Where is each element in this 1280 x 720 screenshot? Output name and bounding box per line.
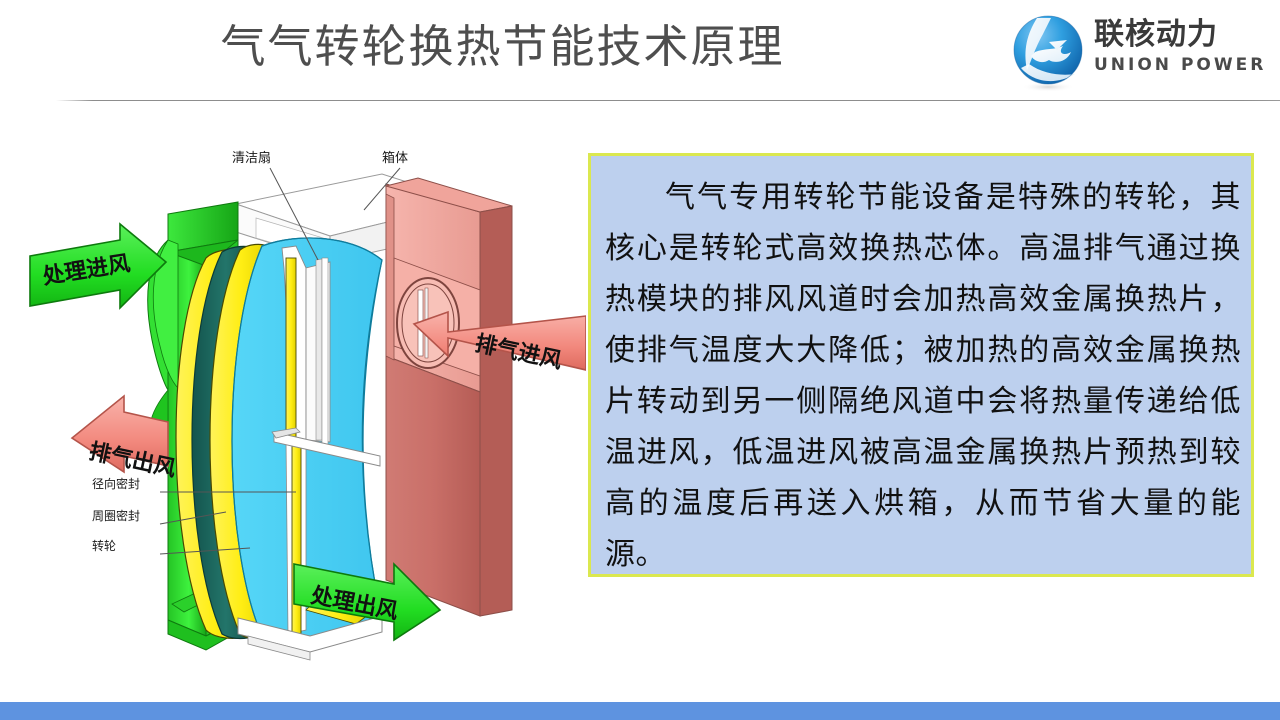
callout-clean-fan: 清洁扇 — [232, 150, 271, 166]
page-title: 气气转轮换热节能技术原理 — [0, 16, 1005, 78]
description-panel: 气气专用转轮节能设备是特殊的转轮，其核心是转轮式高效换热芯体。高温排气通过换热模… — [588, 153, 1254, 577]
footer-bar — [0, 702, 1280, 720]
callout-box-body: 箱体 — [382, 150, 408, 166]
logo-name-cn: 联核动力 — [1094, 18, 1272, 52]
description-paragraph: 气气专用转轮节能设备是特殊的转轮，其核心是转轮式高效换热芯体。高温排气通过换热模… — [591, 156, 1251, 590]
logo-wordmark: 联核动力 UNION POWER — [1094, 18, 1272, 76]
callout-radial-seal: 径向密封 — [92, 476, 140, 491]
callout-perimeter-seal: 周圈密封 — [92, 508, 140, 523]
logo-name-en: UNION POWER — [1094, 54, 1272, 76]
rotor-heat-exchanger-diagram: 清洁扇 箱体 径向密封 周圈密封 转轮 处理进风 排气进风 排气出风 处理出风 — [0, 140, 586, 670]
company-logo: 联核动力 UNION POWER — [1004, 10, 1274, 96]
exhaust-casing — [386, 178, 512, 616]
callout-rotor-wheel: 转轮 — [92, 538, 116, 553]
header-divider — [56, 100, 1280, 101]
union-power-sphere-icon — [1007, 12, 1089, 94]
